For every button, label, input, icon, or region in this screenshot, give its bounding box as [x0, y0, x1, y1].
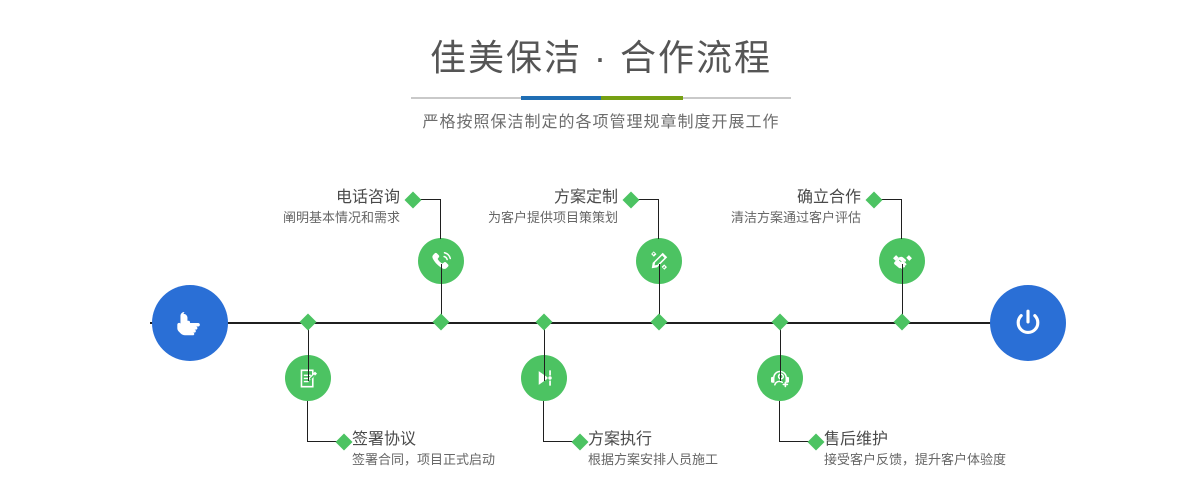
axis-marker-sign-agreement	[300, 314, 317, 331]
step-stem-after-sales	[780, 322, 781, 381]
axis-marker-phone-consult	[433, 314, 450, 331]
step-title-after-sales: 售后维护	[824, 430, 1164, 450]
axis-marker-after-sales	[772, 314, 789, 331]
leader-marker-sign-agreement	[336, 434, 353, 451]
step-desc-establish-cooperation: 清洁方案通过客户评估	[561, 208, 861, 228]
axis-marker-establish-cooperation	[894, 314, 911, 331]
axis-marker-plan-custom	[651, 314, 668, 331]
pointing-hand-icon	[169, 302, 211, 344]
step-desc-after-sales: 接受客户反馈，提升客户体验度	[824, 450, 1164, 470]
timeline-end-node[interactable]	[990, 285, 1066, 361]
axis-marker-plan-execute	[536, 314, 553, 331]
timeline-axis	[150, 322, 1052, 324]
divider-blue-segment	[521, 96, 601, 100]
power-icon	[1007, 302, 1049, 344]
step-label-establish-cooperation: 确立合作 清洁方案通过客户评估	[561, 188, 861, 228]
page-subtitle: 严格按照保洁制定的各项管理规章制度开展工作	[0, 108, 1202, 132]
flow-diagram-page: 佳美保洁 · 合作流程 严格按照保洁制定的各项管理规章制度开展工作	[0, 0, 1202, 502]
page-title: 佳美保洁 · 合作流程	[0, 38, 1202, 78]
title-divider	[411, 96, 791, 100]
divider-green-segment	[601, 96, 683, 100]
step-stem-plan-execute	[544, 322, 545, 381]
step-stem-sign-agreement	[308, 322, 309, 381]
timeline-start-node[interactable]	[152, 285, 228, 361]
step-label-after-sales: 售后维护 接受客户反馈，提升客户体验度	[824, 430, 1164, 470]
step-title-establish-cooperation: 确立合作	[561, 188, 861, 208]
leader-marker-establish-cooperation	[866, 192, 883, 209]
